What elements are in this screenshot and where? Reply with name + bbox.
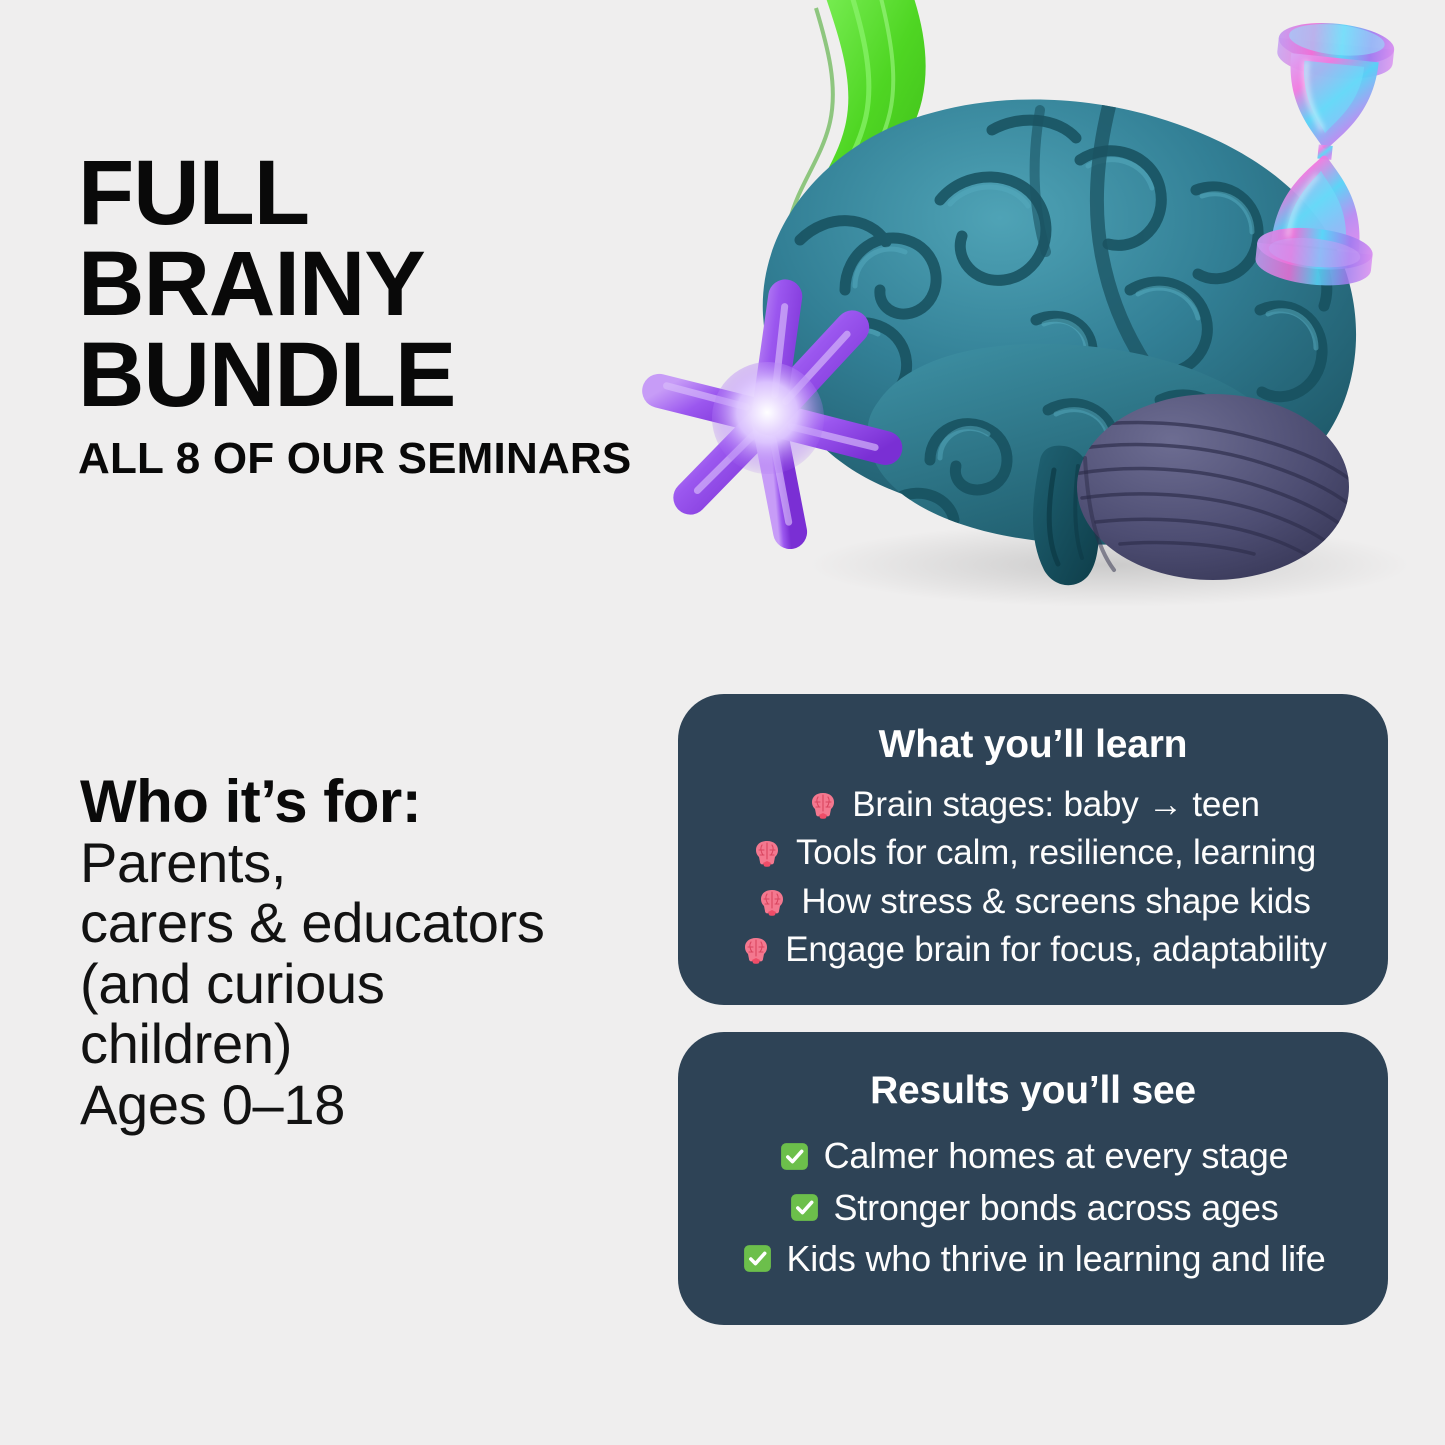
- list-item-text: Kids who thrive in learning and life: [786, 1236, 1325, 1281]
- teal-brain: [763, 99, 1356, 523]
- list-item: Engage brain for focus, adaptability: [704, 928, 1362, 972]
- hero-title-line-1: FULL: [78, 148, 778, 239]
- list-item: How stress & screens shape kids: [704, 880, 1362, 924]
- purple-cerebellum: [1070, 394, 1356, 580]
- list-item: Calmer homes at every stage: [704, 1133, 1362, 1178]
- illustration-shadow: [810, 523, 1410, 607]
- green-check-icon: [787, 1190, 821, 1224]
- hero-title-line-3: BUNDLE: [78, 330, 778, 421]
- brain-temporal-lobe: [868, 344, 1296, 545]
- green-check-icon: [740, 1242, 774, 1276]
- who-its-for-block: Who it’s for: Parents, carers & educator…: [80, 770, 660, 1135]
- list-item: Stronger bonds across ages: [704, 1185, 1362, 1230]
- list-item-text: Stronger bonds across ages: [833, 1185, 1278, 1230]
- brain-emoji-icon: [750, 836, 784, 870]
- who-its-for-line: carers & educators: [80, 893, 660, 953]
- card-title: Results you’ll see: [870, 1069, 1196, 1113]
- green-ribbon-fan: [790, 0, 926, 312]
- list-item-text: Tools for calm, resilience, learning: [796, 831, 1316, 875]
- brain-emoji-icon: [806, 788, 840, 822]
- who-its-for-line: children): [80, 1014, 660, 1074]
- list-item-text: Brain stages: baby → teen: [852, 783, 1259, 827]
- list-item: Kids who thrive in learning and life: [704, 1236, 1362, 1281]
- list-item-text: Engage brain for focus, adaptability: [785, 928, 1327, 972]
- brain-emoji-icon: [755, 885, 789, 919]
- hero-title-line-2: BRAINY: [78, 239, 778, 330]
- brain-emoji-icon: [739, 933, 773, 967]
- who-its-for-line: Ages 0–18: [80, 1075, 660, 1135]
- green-check-icon: [778, 1139, 812, 1173]
- brainstem: [1033, 446, 1099, 586]
- list-item: Brain stages: baby → teen: [704, 783, 1362, 827]
- card-title: What you’ll learn: [879, 723, 1188, 767]
- iridescent-hourglass: [1253, 18, 1396, 291]
- hero-subtitle: ALL 8 OF OUR SEMINARS: [78, 437, 778, 481]
- who-its-for-line: Parents,: [80, 833, 660, 893]
- what-youll-learn-card: What you’ll learn Brain stages: baby → t…: [678, 694, 1388, 1005]
- list-item: Tools for calm, resilience, learning: [704, 831, 1362, 875]
- what-youll-learn-list: Brain stages: baby → teen Tools for calm…: [704, 779, 1362, 975]
- list-item-text: Calmer homes at every stage: [824, 1133, 1289, 1178]
- who-its-for-heading: Who it’s for:: [80, 770, 660, 833]
- list-item-text: How stress & screens shape kids: [801, 880, 1310, 924]
- who-its-for-line: (and curious: [80, 954, 660, 1014]
- results-youll-see-card: Results you’ll see Calmer homes at every…: [678, 1032, 1388, 1325]
- results-youll-see-list: Calmer homes at every stage Stronger bon…: [704, 1127, 1362, 1287]
- hero-title-block: FULL BRAINY BUNDLE ALL 8 OF OUR SEMINARS: [78, 148, 778, 481]
